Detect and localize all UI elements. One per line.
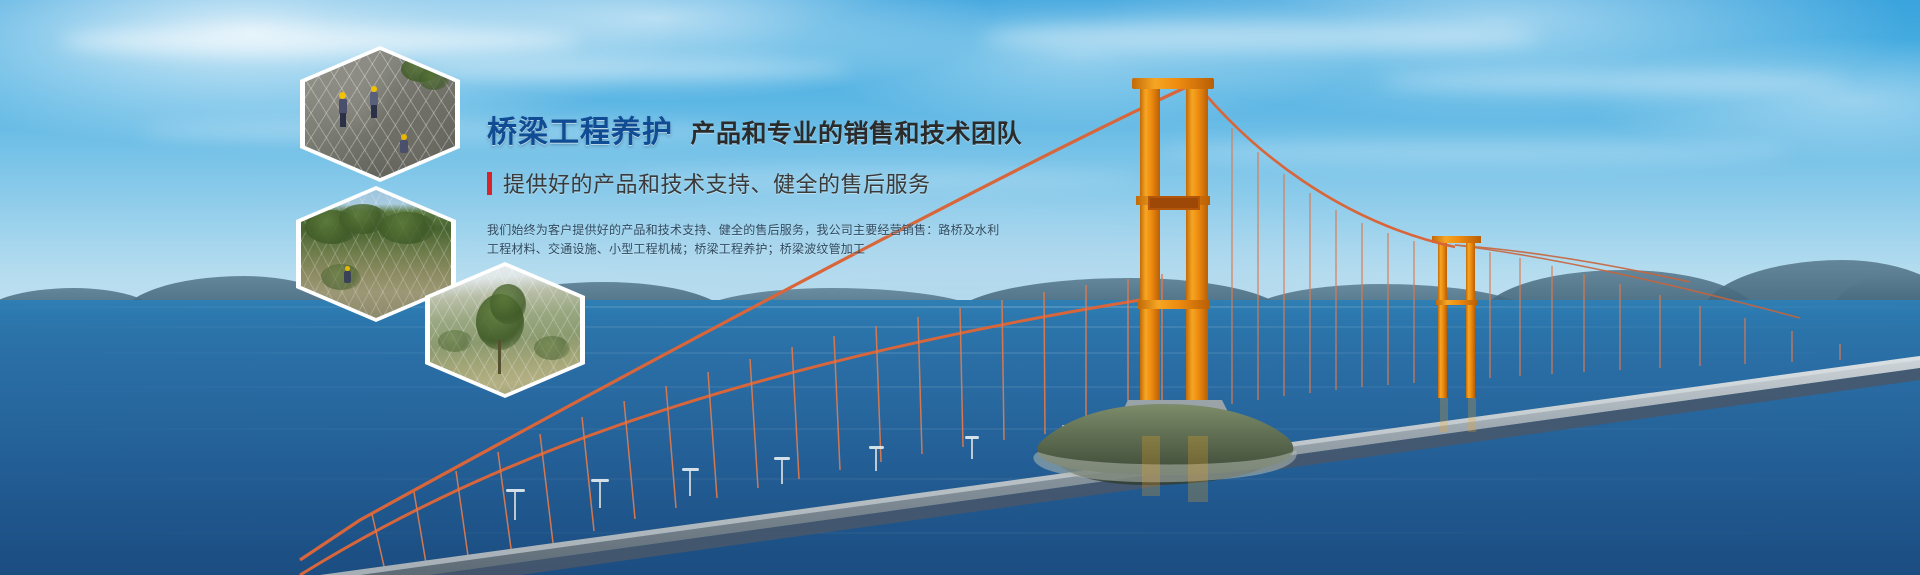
hex-photo-1[interactable] — [305, 50, 455, 178]
banner-subtitle: 提供好的产品和技术支持、健全的售后服务 — [487, 167, 1007, 199]
subtitle-text: 提供好的产品和技术支持、健全的售后服务 — [503, 167, 931, 199]
bridge-hangers-right — [1232, 128, 1840, 404]
banner-headline: 桥梁工程养护 产品和专业的销售和技术团队 — [487, 118, 1007, 148]
paragraph-line-1: 我们始终为客户提供好的产品和技术支持、健全的售后服务，我公司主要经营销售：路桥及… — [487, 221, 1007, 240]
hex-photo-3[interactable] — [430, 266, 580, 394]
bridge-tower-main — [1110, 78, 1240, 436]
hero-banner: 桥梁工程养护 产品和专业的销售和技术团队 提供好的产品和技术支持、健全的售后服务… — [0, 0, 1920, 575]
paragraph-line-2: 工程材料、交通设施、小型工程机械；桥梁工程养护；桥梁波纹管加工 — [487, 240, 1007, 259]
rock-slope-mesh-image — [305, 50, 455, 178]
banner-paragraph: 我们始终为客户提供好的产品和技术支持、健全的售后服务，我公司主要经营销售：路桥及… — [487, 221, 1007, 259]
suspension-bridge — [0, 0, 1920, 575]
accent-bar-icon — [487, 172, 492, 195]
headline-secondary: 产品和专业的销售和技术团队 — [690, 120, 1022, 148]
bridge-island — [1033, 404, 1296, 485]
headline-primary: 桥梁工程养护 — [487, 116, 673, 149]
bridge-tower-far — [1432, 236, 1481, 398]
banner-text-block: 桥梁工程养护 产品和专业的销售和技术团队 提供好的产品和技术支持、健全的售后服务… — [487, 118, 1007, 259]
